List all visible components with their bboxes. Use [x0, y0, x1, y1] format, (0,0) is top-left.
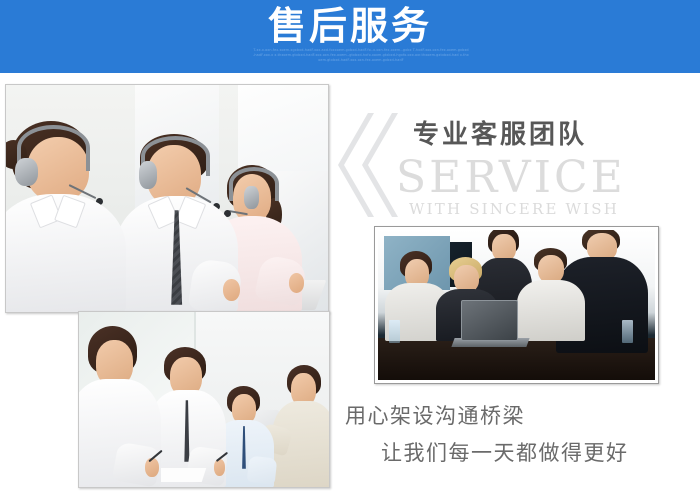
- hand: [289, 273, 304, 292]
- service-en-subtitle: WITH SINCERE WISH: [409, 200, 619, 218]
- head: [492, 234, 515, 261]
- torso: [517, 280, 584, 341]
- page-title: 售后服务: [0, 4, 700, 48]
- headset-cup-icon: [15, 158, 38, 187]
- conference-image: [378, 230, 655, 380]
- water-glass-right-icon: [622, 320, 633, 343]
- agent-center: [115, 130, 237, 312]
- photo-conference: [374, 226, 659, 384]
- headset-cup-icon: [139, 161, 157, 188]
- call-center-image: [6, 85, 328, 312]
- presenter: [274, 365, 329, 488]
- hand: [214, 459, 225, 476]
- hand: [223, 279, 240, 301]
- headset-cup-icon: [244, 186, 258, 208]
- service-en-title: SERVICE: [396, 152, 626, 203]
- double-chevron-left-icon: [334, 113, 398, 217]
- slogan-line-1: 用心架设沟通桥梁: [345, 400, 525, 430]
- slogan-line-2: 让我们每一天都做得更好: [381, 437, 629, 467]
- photo-meeting: [78, 311, 330, 488]
- arm: [246, 455, 276, 484]
- agent-front: [6, 121, 128, 312]
- chevron-left-icon-2: [358, 113, 398, 217]
- page-header: 售后服务 T-xx.x.oxn.fex.xoem.xgxbxd-hadF.xox…: [0, 0, 700, 73]
- attendee-front: [79, 326, 159, 487]
- person-center-right: [522, 248, 580, 341]
- header-subtitle-filler: T-xx.x.oxn.fex.xoem.xgxbxd-hadF.xox.axd.…: [253, 48, 469, 64]
- laptop-icon: [461, 300, 518, 341]
- meeting-image: [79, 312, 329, 487]
- water-glass-left-icon: [389, 320, 400, 343]
- hand: [145, 458, 159, 477]
- photo-call-center: [5, 84, 329, 313]
- service-cn-title: 专业客服团队: [413, 114, 587, 151]
